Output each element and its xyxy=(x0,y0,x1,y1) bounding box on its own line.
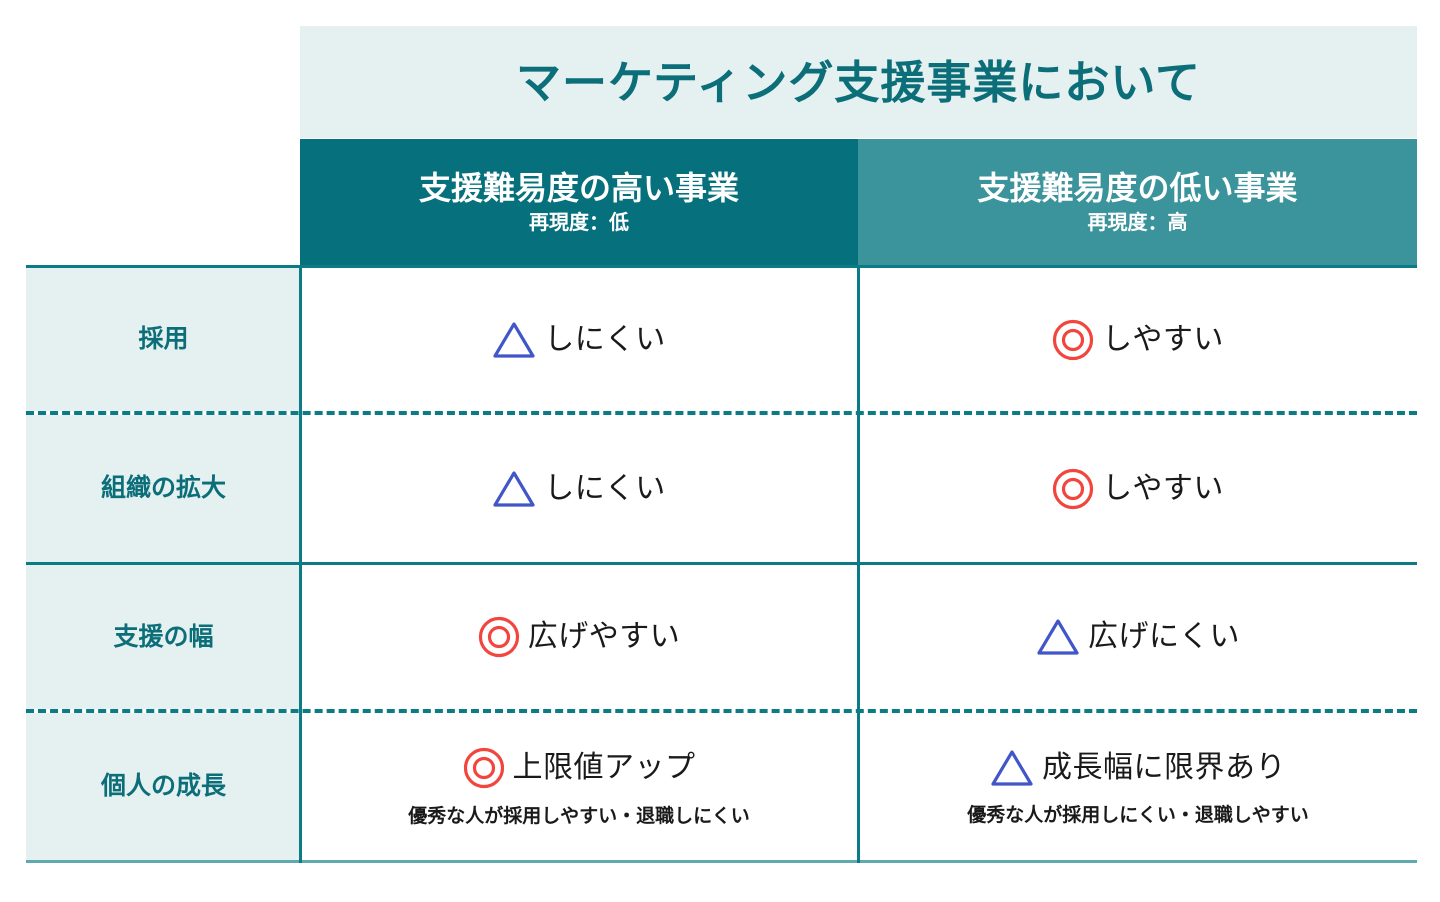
triangle-icon xyxy=(492,469,536,509)
column-divider-right xyxy=(857,265,860,863)
row-divider-dashed-2 xyxy=(26,709,1417,713)
cell-note: 優秀な人が採用しにくい・退職しやすい xyxy=(967,806,1308,825)
row-label-support-breadth: 支援の幅 xyxy=(26,565,301,709)
cell-note: 優秀な人が採用しやすい・退職しにくい xyxy=(408,807,749,826)
row-label-text: 個人の成長 xyxy=(101,774,226,799)
triangle-icon xyxy=(1036,617,1080,657)
table-top-border xyxy=(26,265,1417,268)
cell-text: 成長幅に限界あり xyxy=(1042,753,1286,783)
table-title-band: マーケティング支援事業において xyxy=(300,26,1417,138)
column-header-title: 支援難易度の低い事業 xyxy=(977,171,1297,206)
cell-text: しにくい xyxy=(544,474,665,504)
row-divider-solid xyxy=(26,562,1417,565)
comparison-table: マーケティング支援事業において 支援難易度の高い事業 再現度：低 支援難易度の低… xyxy=(0,0,1440,902)
triangle-icon xyxy=(990,748,1034,788)
row-label-recruiting: 採用 xyxy=(26,268,301,411)
cell-text: しやすい xyxy=(1102,325,1224,355)
double-circle-icon xyxy=(463,747,505,789)
cell-text: しやすい xyxy=(1102,474,1224,504)
row-label-org-expansion: 組織の拡大 xyxy=(26,415,301,562)
column-header-subtitle: 再現度：低 xyxy=(529,213,629,233)
cell-org-expansion-low: しやすい xyxy=(859,415,1417,562)
cell-personal-growth-high: 上限値アップ 優秀な人が採用しやすい・退職しにくい xyxy=(301,713,857,860)
cell-recruiting-high: しにくい xyxy=(301,268,857,411)
double-circle-icon xyxy=(1052,468,1094,510)
column-header-high-difficulty: 支援難易度の高い事業 再現度：低 xyxy=(300,139,858,265)
cell-recruiting-low: しやすい xyxy=(859,268,1417,411)
cell-support-breadth-high: 広げやすい xyxy=(301,565,857,709)
cell-text: 広げにくい xyxy=(1088,622,1240,652)
page-title: マーケティング支援事業において xyxy=(516,60,1201,105)
column-header-subtitle: 再現度：高 xyxy=(1088,213,1188,233)
row-label-text: 支援の幅 xyxy=(113,625,213,650)
column-divider-left xyxy=(299,265,302,863)
table-bottom-border xyxy=(26,860,1417,863)
column-header-title: 支援難易度の高い事業 xyxy=(419,171,739,206)
cell-personal-growth-low: 成長幅に限界あり 優秀な人が採用しにくい・退職しやすい xyxy=(859,713,1417,860)
row-label-text: 採用 xyxy=(138,327,188,352)
triangle-icon xyxy=(492,320,536,360)
cell-org-expansion-high: しにくい xyxy=(301,415,857,562)
cell-text: 上限値アップ xyxy=(513,753,696,783)
row-label-text: 組織の拡大 xyxy=(101,476,226,501)
double-circle-icon xyxy=(478,616,520,658)
cell-support-breadth-low: 広げにくい xyxy=(859,565,1417,709)
double-circle-icon xyxy=(1052,319,1094,361)
column-header-low-difficulty: 支援難易度の低い事業 再現度：高 xyxy=(858,139,1417,265)
cell-text: しにくい xyxy=(544,325,665,355)
row-divider-dashed-1 xyxy=(26,411,1417,415)
cell-text: 広げやすい xyxy=(528,622,681,652)
row-label-personal-growth: 個人の成長 xyxy=(26,713,301,860)
